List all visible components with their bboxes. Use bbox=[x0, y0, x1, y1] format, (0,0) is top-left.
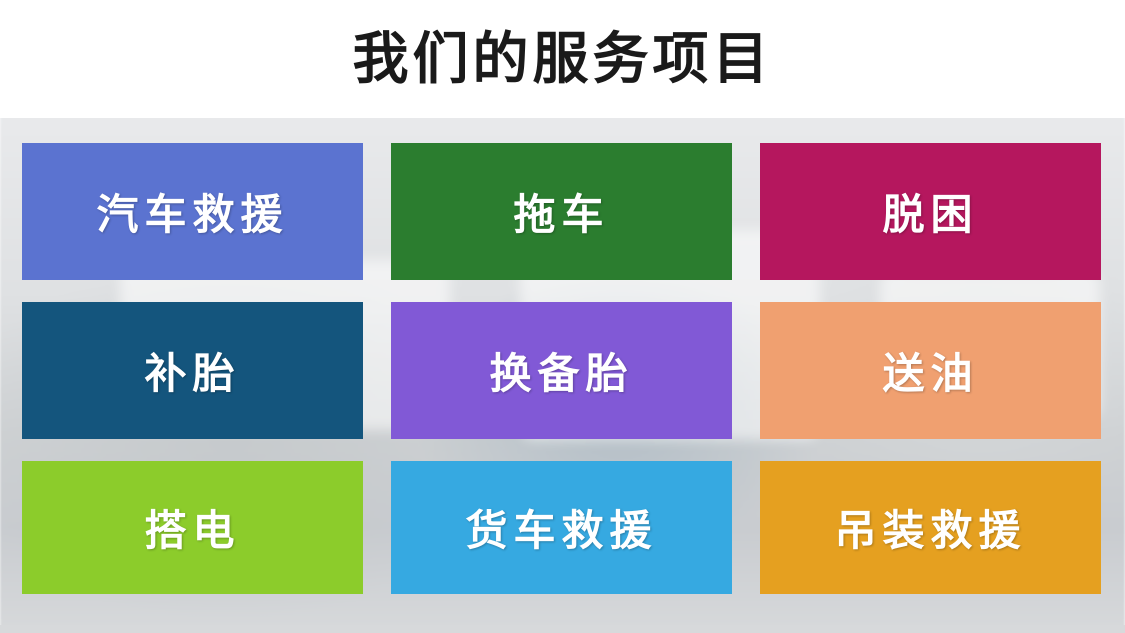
service-tile-label: 脱困 bbox=[882, 181, 978, 242]
service-poster: 我们的服务项目 汽车救援 拖车 脱困 补胎 换备胎 送油 搭电 货车救援 吊装救… bbox=[0, 0, 1125, 633]
service-tile-label: 换备胎 bbox=[489, 340, 633, 401]
bottom-edge bbox=[0, 625, 1125, 633]
service-tile-jump-start[interactable]: 搭电 bbox=[22, 461, 363, 594]
service-tile-fuel-delivery[interactable]: 送油 bbox=[760, 302, 1101, 439]
service-tile-spare-tire[interactable]: 换备胎 bbox=[391, 302, 732, 439]
service-tile-label: 送油 bbox=[882, 340, 978, 401]
service-tile-label: 拖车 bbox=[513, 181, 609, 242]
service-tile-towing[interactable]: 拖车 bbox=[391, 143, 732, 280]
service-tile-car-rescue[interactable]: 汽车救援 bbox=[22, 143, 363, 280]
service-tile-tire-repair[interactable]: 补胎 bbox=[22, 302, 363, 439]
service-tile-label: 补胎 bbox=[144, 340, 240, 401]
service-tile-crane-rescue[interactable]: 吊装救援 bbox=[760, 461, 1101, 594]
service-tile-label: 货车救援 bbox=[465, 497, 657, 558]
service-tile-truck-rescue[interactable]: 货车救援 bbox=[391, 461, 732, 594]
service-tile-extrication[interactable]: 脱困 bbox=[760, 143, 1101, 280]
service-tile-label: 吊装救援 bbox=[834, 497, 1026, 558]
page-title: 我们的服务项目 bbox=[0, 24, 1125, 94]
service-grid: 汽车救援 拖车 脱困 补胎 换备胎 送油 搭电 货车救援 吊装救援 bbox=[22, 143, 1103, 598]
service-tile-label: 汽车救援 bbox=[96, 181, 288, 242]
service-tile-label: 搭电 bbox=[144, 497, 240, 558]
